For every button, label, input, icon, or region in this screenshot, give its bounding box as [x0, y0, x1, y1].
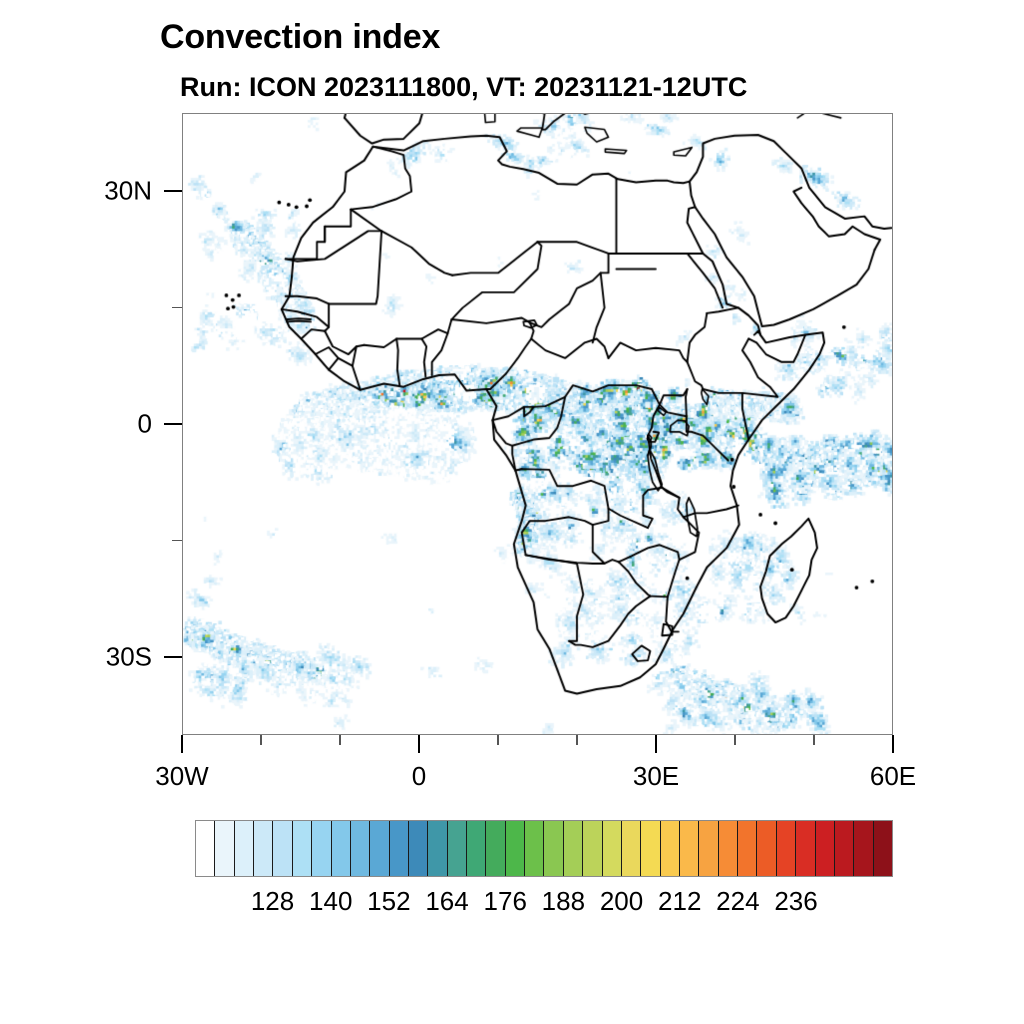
colorbar-cell	[448, 821, 467, 876]
colorbar-cell	[816, 821, 835, 876]
colorbar-cell	[351, 821, 370, 876]
colorbar-cell	[273, 821, 292, 876]
y-axis-tick	[172, 307, 182, 309]
page-title: Convection index	[160, 18, 440, 57]
colorbar-cell	[835, 821, 854, 876]
colorbar-tick-label: 236	[774, 886, 817, 917]
x-axis-tick	[497, 735, 499, 745]
colorbar-cell	[428, 821, 447, 876]
x-axis-tick	[260, 735, 262, 745]
colorbar-cell	[544, 821, 563, 876]
colorbar-tick-label: 212	[658, 886, 701, 917]
colorbar-cell	[738, 821, 757, 876]
x-axis-tick	[892, 735, 894, 753]
colorbar-cell	[661, 821, 680, 876]
x-axis-tick	[655, 735, 657, 753]
colorbar-cells	[195, 820, 893, 877]
colorbar-cell	[719, 821, 738, 876]
colorbar-cell	[506, 821, 525, 876]
convection-index-map	[183, 114, 892, 734]
colorbar-tick-label: 140	[309, 886, 352, 917]
colorbar-tick-label: 200	[600, 886, 643, 917]
colorbar-cell	[390, 821, 409, 876]
y-axis-label: 30N	[0, 175, 152, 206]
colorbar-cell	[796, 821, 815, 876]
colorbar-cell	[486, 821, 505, 876]
y-axis-tick	[164, 656, 182, 658]
colorbar-cell	[293, 821, 312, 876]
colorbar-cell	[603, 821, 622, 876]
colorbar-cell	[757, 821, 776, 876]
colorbar-tick-label: 152	[367, 886, 410, 917]
colorbar-cell	[699, 821, 718, 876]
x-axis-tick	[734, 735, 736, 745]
y-axis-tick	[172, 540, 182, 542]
colorbar-tick-label: 128	[251, 886, 294, 917]
x-axis-label: 0	[412, 761, 426, 792]
x-axis-tick	[181, 735, 183, 753]
colorbar-tick-label: 164	[425, 886, 468, 917]
y-axis-tick	[164, 190, 182, 192]
x-axis-label: 60E	[870, 761, 916, 792]
colorbar-cell	[409, 821, 428, 876]
page-subtitle: Run: ICON 2023111800, VT: 20231121-12UTC	[180, 72, 747, 103]
colorbar-cell	[583, 821, 602, 876]
colorbar-cell	[196, 821, 215, 876]
colorbar-tick-label: 176	[484, 886, 527, 917]
x-axis-label: 30E	[633, 761, 679, 792]
x-axis-tick	[813, 735, 815, 745]
x-axis-tick	[576, 735, 578, 745]
colorbar-cell	[312, 821, 331, 876]
x-axis-label: 30W	[155, 761, 208, 792]
y-axis-label: 30S	[0, 642, 152, 673]
colorbar-tick-label: 224	[716, 886, 759, 917]
colorbar-tick-label: 188	[542, 886, 585, 917]
y-axis-label: 0	[0, 409, 152, 440]
colorbar-cell	[332, 821, 351, 876]
colorbar-cell	[370, 821, 389, 876]
x-axis-tick	[339, 735, 341, 745]
colorbar-cell	[215, 821, 234, 876]
x-axis-tick	[418, 735, 420, 753]
colorbar: 128140152164176188200212224236	[195, 820, 893, 877]
colorbar-cell	[467, 821, 486, 876]
colorbar-cell	[525, 821, 544, 876]
colorbar-cell	[777, 821, 796, 876]
colorbar-cell	[874, 821, 892, 876]
colorbar-cell	[564, 821, 583, 876]
colorbar-cell	[235, 821, 254, 876]
y-axis-tick	[164, 423, 182, 425]
colorbar-cell	[254, 821, 273, 876]
colorbar-cell	[854, 821, 873, 876]
colorbar-cell	[641, 821, 660, 876]
colorbar-cell	[680, 821, 699, 876]
map-plot-area	[182, 113, 893, 735]
colorbar-cell	[622, 821, 641, 876]
